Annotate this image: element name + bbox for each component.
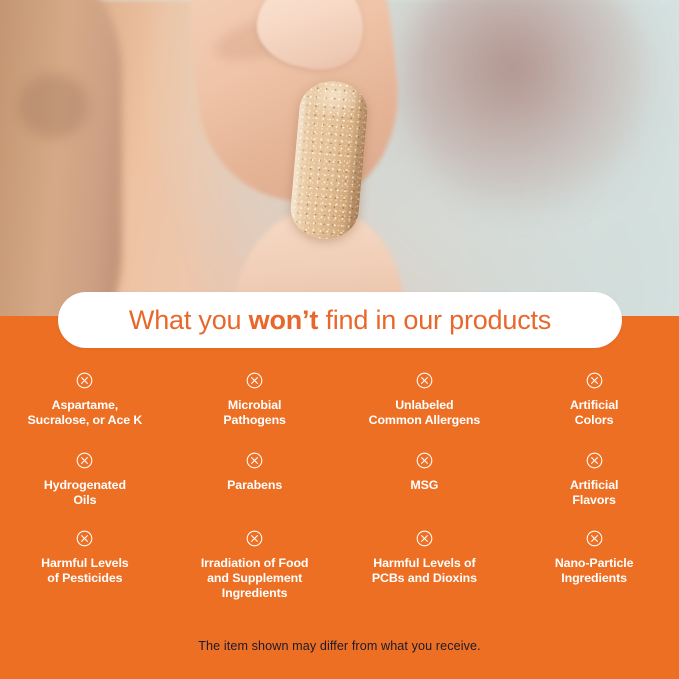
circle-x-icon: [246, 530, 263, 547]
exclusion-item: Artificial Colors: [509, 372, 679, 452]
exclusion-label: Nano-Particle Ingredients: [555, 556, 634, 586]
exclusion-item: Hydrogenated Oils: [0, 452, 170, 530]
circle-x-icon: [246, 372, 263, 389]
headline-suffix: find in our products: [318, 305, 551, 335]
exclusions-row: Hydrogenated Oils Parabens MSG: [0, 452, 679, 530]
exclusion-label: MSG: [410, 478, 438, 493]
exclusion-label: Harmful Levels of PCBs and Dioxins: [372, 556, 477, 586]
product-feature-graphic: Aspartame, Sucralose, or Ace K Microbial…: [0, 0, 679, 679]
circle-x-icon: [586, 530, 603, 547]
exclusion-item: Microbial Pathogens: [170, 372, 340, 452]
exclusion-label: Artificial Colors: [570, 398, 619, 428]
exclusion-item: Harmful Levels of PCBs and Dioxins: [340, 530, 510, 620]
exclusion-item: Harmful Levels of Pesticides: [0, 530, 170, 620]
exclusion-item: Parabens: [170, 452, 340, 530]
product-photo: [0, 0, 679, 318]
headline-emphasis: won’t: [249, 305, 318, 335]
exclusion-item: Artificial Flavors: [509, 452, 679, 530]
exclusion-item: MSG: [340, 452, 510, 530]
exclusions-grid: Aspartame, Sucralose, or Ace K Microbial…: [0, 372, 679, 620]
blurred-forearm: [0, 0, 122, 318]
exclusion-item: Unlabeled Common Allergens: [340, 372, 510, 452]
exclusions-panel: Aspartame, Sucralose, or Ace K Microbial…: [0, 316, 679, 679]
exclusions-row: Harmful Levels of Pesticides Irradiation…: [0, 530, 679, 620]
headline-prefix: What you: [129, 305, 249, 335]
headline-banner: What you won’t find in our products: [58, 292, 622, 348]
headline-text: What you won’t find in our products: [129, 305, 551, 336]
exclusion-label: Microbial Pathogens: [223, 398, 285, 428]
exclusion-label: Aspartame, Sucralose, or Ace K: [28, 398, 143, 428]
exclusion-item: Aspartame, Sucralose, or Ace K: [0, 372, 170, 452]
disclaimer-text: The item shown may differ from what you …: [0, 639, 679, 653]
exclusion-label: Hydrogenated Oils: [44, 478, 126, 508]
circle-x-icon: [246, 452, 263, 469]
circle-x-icon: [76, 530, 93, 547]
exclusion-label: Unlabeled Common Allergens: [369, 398, 481, 428]
circle-x-icon: [416, 530, 433, 547]
supplement-tablet: [288, 78, 370, 241]
exclusion-label: Artificial Flavors: [570, 478, 619, 508]
circle-x-icon: [416, 372, 433, 389]
exclusion-item: Irradiation of Food and Supplement Ingre…: [170, 530, 340, 620]
exclusion-label: Parabens: [227, 478, 282, 493]
circle-x-icon: [586, 372, 603, 389]
circle-x-icon: [76, 452, 93, 469]
exclusion-item: Nano-Particle Ingredients: [509, 530, 679, 620]
circle-x-icon: [416, 452, 433, 469]
circle-x-icon: [76, 372, 93, 389]
exclusion-label: Irradiation of Food and Supplement Ingre…: [201, 556, 309, 601]
exclusions-row: Aspartame, Sucralose, or Ace K Microbial…: [0, 372, 679, 452]
circle-x-icon: [586, 452, 603, 469]
exclusion-label: Harmful Levels of Pesticides: [41, 556, 128, 586]
